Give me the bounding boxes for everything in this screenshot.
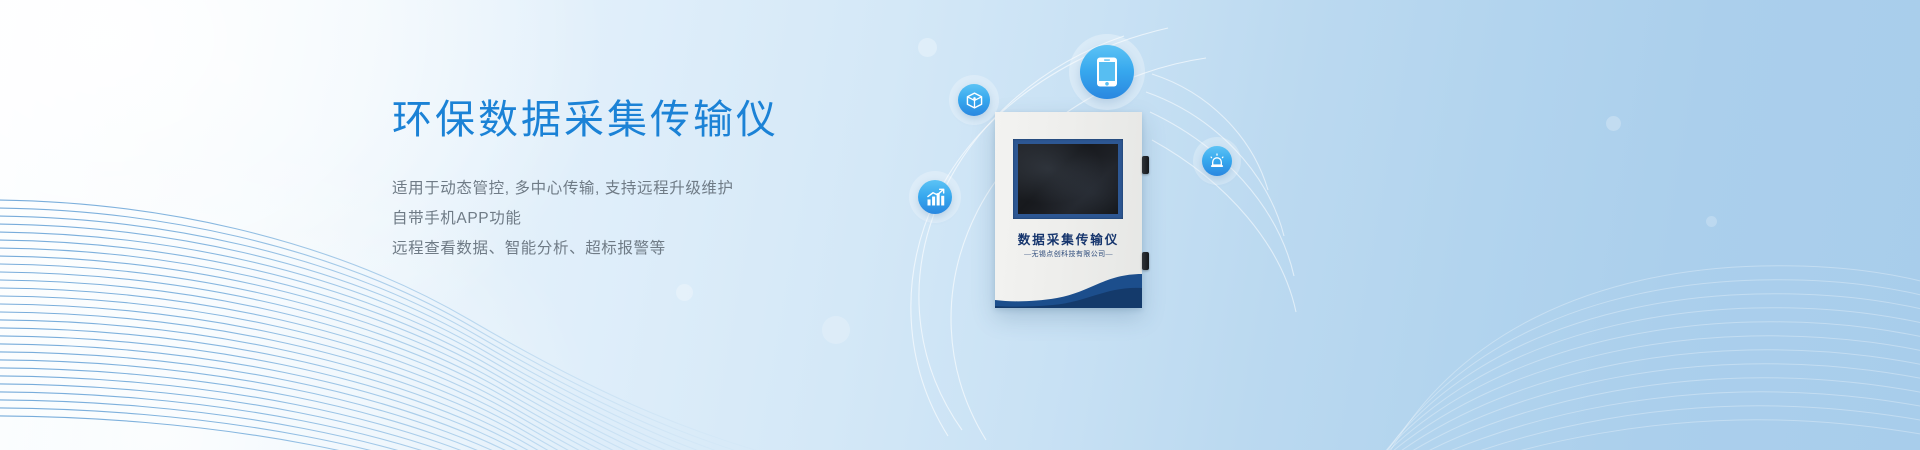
bokeh-dot-6: [822, 316, 850, 344]
page-title: 环保数据采集传输仪: [392, 96, 952, 144]
device-bottom-wave: [995, 272, 1142, 308]
device-screen-bezel: [1013, 139, 1123, 219]
signal-orbit-rings: [0, 0, 1920, 450]
badge-alarm[interactable]: [1202, 146, 1232, 176]
device-hinge-top: [1142, 156, 1149, 174]
feature-list: 适用于动态管控, 多中心传输, 支持远程升级维护 自带手机APP功能 远程查看数…: [392, 174, 952, 264]
badge-data-package[interactable]: [958, 84, 990, 116]
bokeh-dot-3: [1606, 116, 1621, 131]
device-hinge-bottom: [1142, 252, 1149, 270]
device-display: [1018, 144, 1118, 214]
hero-copy: 环保数据采集传输仪 适用于动态管控, 多中心传输, 支持远程升级维护 自带手机A…: [392, 96, 952, 264]
list-item: 远程查看数据、智能分析、超标报警等: [392, 234, 952, 264]
alarm-siren-icon: [1209, 153, 1225, 169]
device-brand-label: 数据采集传输仪: [995, 229, 1142, 248]
bokeh-dot-5: [216, 60, 240, 84]
device-company-label: —无锡点创科技有限公司—: [995, 249, 1142, 259]
badge-mobile-app[interactable]: [1080, 45, 1134, 99]
device-cabinet: 数据采集传输仪 —无锡点创科技有限公司—: [995, 112, 1142, 308]
right-arc-lines-decoration: [0, 0, 1920, 450]
left-flow-lines-decoration: [0, 0, 1920, 450]
bokeh-dot-2: [676, 284, 693, 301]
bokeh-dot-1: [918, 38, 937, 57]
badge-analytics[interactable]: [918, 180, 952, 214]
bokeh-dot-4: [1706, 216, 1717, 227]
bar-chart-growth-icon: [926, 188, 945, 207]
list-item: 适用于动态管控, 多中心传输, 支持远程升级维护: [392, 174, 952, 204]
mobile-phone-icon: [1095, 57, 1119, 87]
product-hero-banner: 环保数据采集传输仪 适用于动态管控, 多中心传输, 支持远程升级维护 自带手机A…: [0, 0, 1920, 450]
cube-box-icon: [966, 92, 983, 109]
list-item: 自带手机APP功能: [392, 204, 952, 234]
product-device-image: 数据采集传输仪 —无锡点创科技有限公司—: [995, 112, 1145, 312]
